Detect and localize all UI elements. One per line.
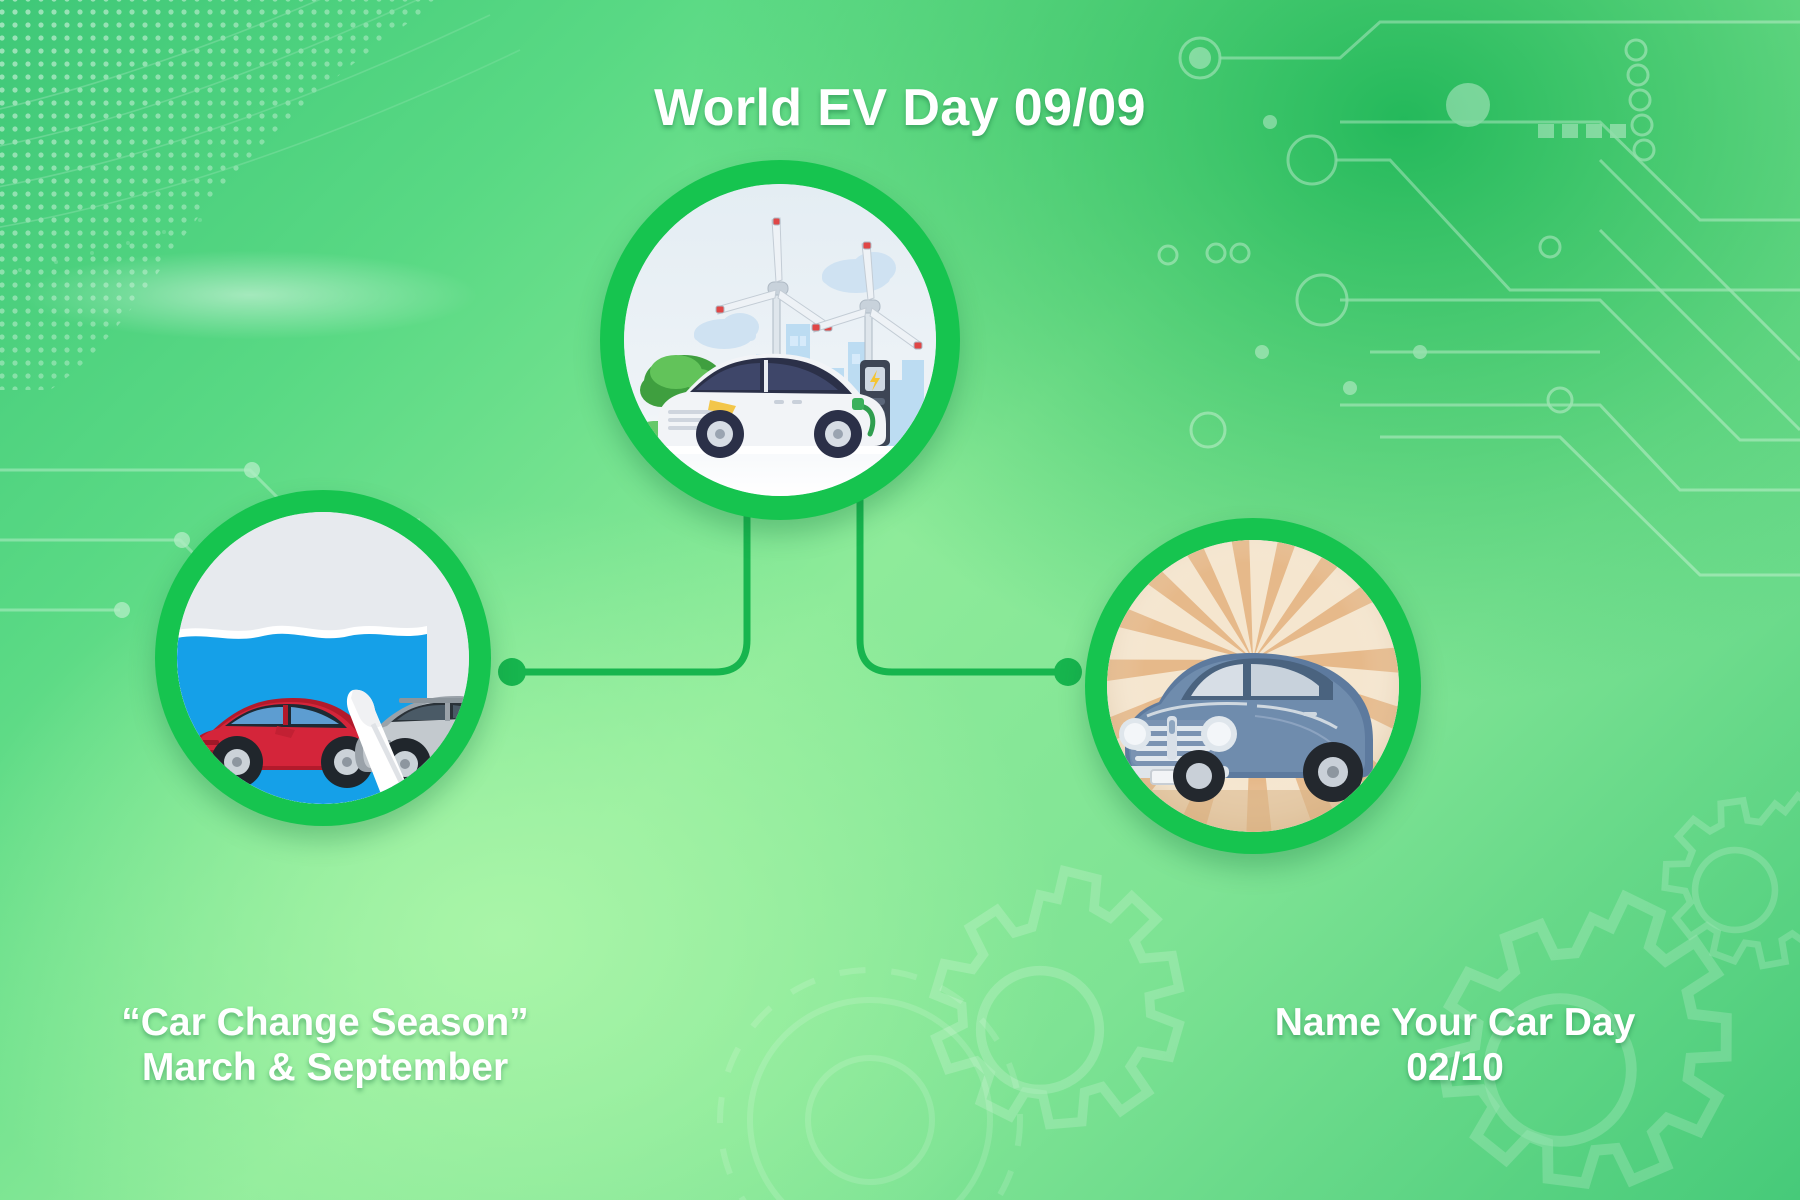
caption-name-your-car-day: Name Your Car Day 02/10: [1150, 1000, 1760, 1090]
caption-left-line2: March & September: [20, 1045, 630, 1090]
caption-right-line2: 02/10: [1150, 1045, 1760, 1090]
infographic-canvas: World EV Day 09/09: [0, 0, 1800, 1200]
caption-right-line1: Name Your Car Day: [1275, 1001, 1636, 1044]
node-car-change-season[interactable]: [155, 490, 491, 826]
node-world-ev-day[interactable]: [600, 160, 960, 520]
node-image-world-ev-day: [624, 184, 936, 496]
node-name-your-car-day[interactable]: [1085, 518, 1421, 854]
node-image-name-your-car-day: [1107, 540, 1399, 832]
node-image-car-change-season: [177, 512, 469, 804]
caption-left-line1: “Car Change Season”: [121, 1001, 528, 1044]
caption-car-change-season: “Car Change Season” March & September: [20, 1000, 630, 1090]
